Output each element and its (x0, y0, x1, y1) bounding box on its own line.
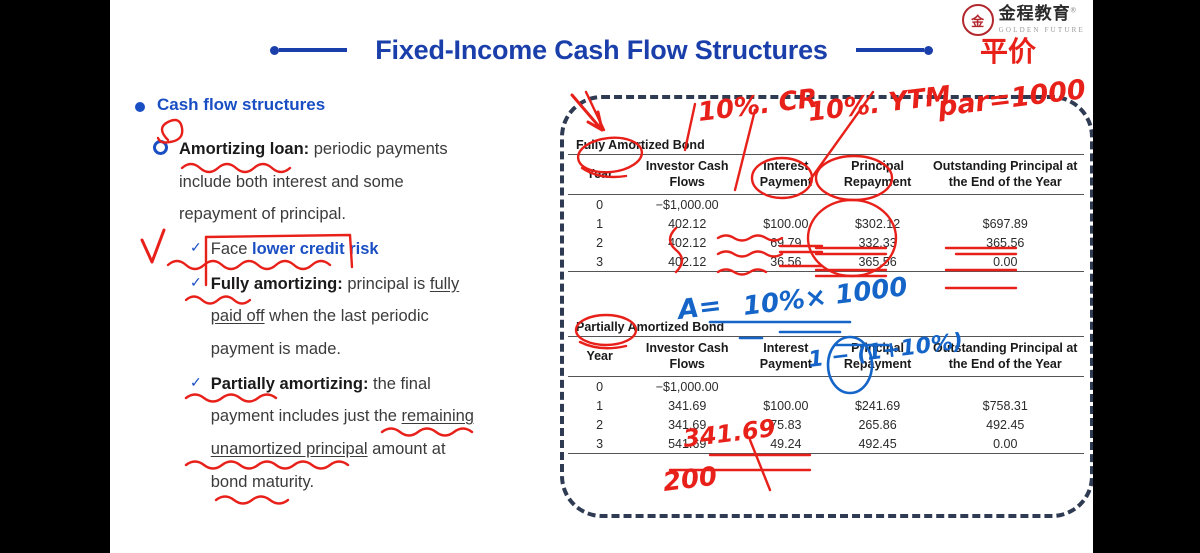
th-principal-repayment: Principal Repayment (829, 337, 927, 377)
partially-amortized-bond-table-block: Partially Amortized Bond Year Investor C… (568, 320, 1088, 454)
cell-outstanding: $758.31 (927, 396, 1085, 415)
amortizing-loan-line1: periodic payments (309, 140, 448, 158)
table-row: 2 402.12 69.79 332.33 365.56 (568, 233, 1084, 252)
th-cf-l1: Investor Cash (646, 159, 729, 173)
cell-outstanding: 0.00 (927, 434, 1085, 454)
fully-amortizing-line3: payment is made. (211, 340, 341, 358)
brand-seal-char: 金 (971, 11, 984, 30)
outline-list: Cash flow structures Amortizing loan: pe… (135, 95, 560, 498)
table-row: 1 341.69 $100.00 $241.69 $758.31 (568, 396, 1084, 415)
th-year: Year (568, 337, 631, 377)
table-row: 3 541.69 49.24 492.45 0.00 (568, 434, 1084, 454)
cell-interest: $100.00 (743, 396, 829, 415)
cell-principal: 265.86 (829, 415, 927, 434)
cell-interest: 75.83 (743, 415, 829, 434)
th-cf-l1: Investor Cash (646, 341, 729, 355)
cell-year: 2 (568, 233, 631, 252)
amortizing-loan-term: Amortizing loan: (179, 140, 309, 158)
amortizing-loan-line3: repayment of principal. (179, 205, 346, 223)
table-caption-partially: Partially Amortized Bond (568, 320, 1088, 336)
bullet-ring-icon (153, 140, 168, 155)
th-year-l1: Year (586, 349, 612, 363)
th-int-l1: Interest (763, 159, 808, 173)
cell-interest (743, 195, 829, 215)
check-item-fully-amortizing: ✓ Fully amortizing: principal is fully p… (190, 268, 560, 366)
cell-year: 1 (568, 396, 631, 415)
partially-amortizing-rest: the final (368, 375, 430, 393)
cell-cash-flow: −$1,000.00 (631, 377, 743, 397)
th-cash-flows: Investor Cash Flows (631, 337, 743, 377)
fully-amortized-bond-table-block: Fully Amortized Bond Year Investor Cash … (568, 138, 1088, 272)
credit-risk-lead: Face (211, 240, 252, 258)
cell-cash-flow: 541.69 (631, 434, 743, 454)
table-row: 3 402.12 36.56 365.56 0.00 (568, 252, 1084, 272)
cell-cash-flow: 402.12 (631, 214, 743, 233)
partially-line2-underline: remaining (402, 407, 474, 425)
cell-interest (743, 377, 829, 397)
fully-amortizing-line2: when the last periodic (265, 307, 429, 325)
fully-amortizing-rest: principal is (343, 275, 430, 293)
cell-principal: $241.69 (829, 396, 927, 415)
check-icon: ✓ (190, 374, 202, 391)
th-op-l1: Outstanding Principal at (933, 159, 1077, 173)
cell-principal: $302.12 (829, 214, 927, 233)
th-op-l1: Outstanding Principal at (933, 341, 1077, 355)
th-principal-repayment: Principal Repayment (829, 155, 927, 195)
screen-letterbox: 金 金程教育® GOLDEN FUTURE Fixed-Income Cash … (0, 0, 1200, 553)
page-title: Fixed-Income Cash Flow Structures (375, 35, 828, 66)
partially-line3-rest: amount at (368, 440, 446, 458)
cell-interest: 69.79 (743, 233, 829, 252)
cell-outstanding: 365.56 (927, 233, 1085, 252)
cell-outstanding (927, 195, 1085, 215)
th-pr-l2: Repayment (844, 175, 911, 189)
cell-principal (829, 195, 927, 215)
th-year-l1: Year (586, 167, 612, 181)
check-item-credit-risk: ✓ Face lower credit risk (190, 233, 560, 266)
partially-line2-lead: payment includes just the (211, 407, 402, 425)
table-header-row: Year Investor Cash Flows Interest Paymen… (568, 155, 1084, 195)
cell-year: 1 (568, 214, 631, 233)
partially-line4: bond maturity. (211, 473, 314, 491)
cell-outstanding: 0.00 (927, 252, 1085, 272)
cell-principal: 492.45 (829, 434, 927, 454)
fully-underline-1: fully (430, 275, 459, 293)
brand-name-cn: 金程教育 (999, 4, 1071, 24)
table-header-row: Year Investor Cash Flows Interest Paymen… (568, 337, 1084, 377)
cell-interest: $100.00 (743, 214, 829, 233)
check-fully-amortizing-text: Fully amortizing: principal is fully pai… (211, 268, 459, 366)
fully-amortized-bond-table: Year Investor Cash Flows Interest Paymen… (568, 154, 1084, 272)
th-outstanding-principal: Outstanding Principal at the End of the … (927, 155, 1085, 195)
th-year: Year (568, 155, 631, 195)
cell-principal (829, 377, 927, 397)
th-interest-payment: Interest Payment (743, 337, 829, 377)
cell-cash-flow: 402.12 (631, 233, 743, 252)
table-row: 1 402.12 $100.00 $302.12 $697.89 (568, 214, 1084, 233)
cell-outstanding: $697.89 (927, 214, 1085, 233)
title-decor-right-icon (856, 46, 933, 55)
th-op-l2: the End of the Year (949, 175, 1062, 189)
th-int-l2: Payment (760, 175, 812, 189)
title-decor-left-icon (270, 46, 347, 55)
partially-amortized-bond-table: Year Investor Cash Flows Interest Paymen… (568, 336, 1084, 454)
cell-interest: 36.56 (743, 252, 829, 272)
outline-level2-item: Amortizing loan: periodic payments inclu… (153, 133, 560, 231)
table-caption-fully: Fully Amortized Bond (568, 138, 1088, 154)
cell-interest: 49.24 (743, 434, 829, 454)
check-icon: ✓ (190, 274, 202, 291)
th-cf-l2: Flows (669, 357, 704, 371)
cell-cash-flow: 402.12 (631, 252, 743, 272)
partially-line3-underline: unamortized principal (211, 440, 368, 458)
brand-registered-mark: ® (1071, 8, 1076, 15)
outline-level1-item: Cash flow structures (135, 95, 560, 115)
partially-amortizing-term: Partially amortizing: (211, 375, 369, 393)
cell-cash-flow: 341.69 (631, 396, 743, 415)
cell-year: 0 (568, 377, 631, 397)
brand-name-cn-wrap: 金程教育® (999, 6, 1076, 24)
cell-cash-flow: 341.69 (631, 415, 743, 434)
th-interest-payment: Interest Payment (743, 155, 829, 195)
th-pr-l2: Repayment (844, 357, 911, 371)
th-outstanding-principal: Outstanding Principal at the End of the … (927, 337, 1085, 377)
bullet-dot-icon (135, 102, 145, 112)
th-pr-l1: Principal (851, 159, 904, 173)
amortizing-loan-line2: include both interest and some (179, 173, 404, 191)
cell-outstanding: 492.45 (927, 415, 1085, 434)
th-int-l2: Payment (760, 357, 812, 371)
table-row: 0 −$1,000.00 (568, 377, 1084, 397)
table-row: 2 341.69 75.83 265.86 492.45 (568, 415, 1084, 434)
credit-risk-highlight: lower credit risk (252, 240, 379, 258)
th-int-l1: Interest (763, 341, 808, 355)
check-icon: ✓ (190, 239, 202, 256)
cell-year: 3 (568, 252, 631, 272)
cell-principal: 365.56 (829, 252, 927, 272)
slide-canvas: 金 金程教育® GOLDEN FUTURE Fixed-Income Cash … (110, 0, 1093, 553)
check-partially-amortizing-text: Partially amortizing: the final payment … (211, 368, 474, 499)
cell-principal: 332.33 (829, 233, 927, 252)
outline-level1-label: Cash flow structures (157, 95, 325, 115)
fully-amortizing-term: Fully amortizing: (211, 275, 343, 293)
fully-underline-2: paid off (211, 307, 265, 325)
cell-year: 2 (568, 415, 631, 434)
cell-year: 3 (568, 434, 631, 454)
table-row: 0 −$1,000.00 (568, 195, 1084, 215)
th-op-l2: the End of the Year (949, 357, 1062, 371)
cell-outstanding (927, 377, 1085, 397)
slide-title-row: Fixed-Income Cash Flow Structures (110, 30, 1093, 70)
outline-level2-text: Amortizing loan: periodic payments inclu… (179, 133, 448, 231)
cell-cash-flow: −$1,000.00 (631, 195, 743, 215)
check-item-partially-amortizing: ✓ Partially amortizing: the final paymen… (190, 368, 560, 499)
th-cf-l2: Flows (669, 175, 704, 189)
cell-year: 0 (568, 195, 631, 215)
check-credit-risk-text: Face lower credit risk (211, 233, 379, 266)
th-pr-l1: Principal (851, 341, 904, 355)
th-cash-flows: Investor Cash Flows (631, 155, 743, 195)
